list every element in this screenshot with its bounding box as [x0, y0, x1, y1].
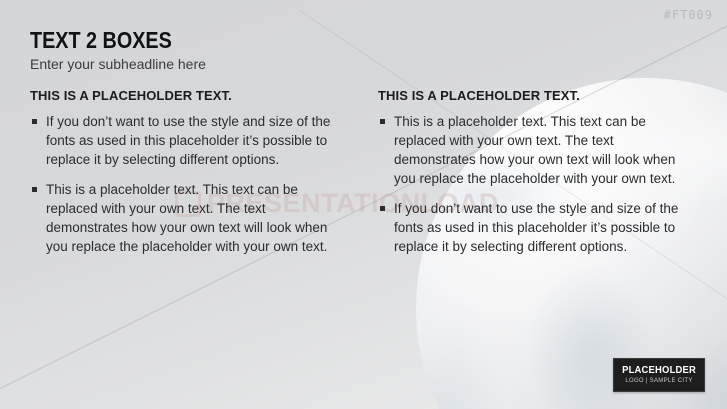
- page-subtitle[interactable]: Enter your subheadline here: [30, 56, 206, 72]
- template-code-tag: #FT009: [664, 8, 713, 22]
- list-item[interactable]: If you don’t want to use the style and s…: [378, 199, 696, 256]
- slide-canvas: PRESENTATIONLOAD #FT009 TEXT 2 BOXES Ent…: [0, 0, 727, 409]
- square-bullet-icon: [32, 119, 37, 124]
- logo-placeholder[interactable]: PLACEHOLDER LOGO | SAMPLE CITY: [613, 358, 705, 392]
- list-item-text: This is a placeholder text. This text ca…: [394, 114, 675, 186]
- logo-subtitle: LOGO | SAMPLE CITY: [625, 377, 692, 386]
- list-item[interactable]: This is a placeholder text. This text ca…: [378, 112, 696, 188]
- square-bullet-icon: [380, 119, 385, 124]
- square-bullet-icon: [380, 206, 385, 211]
- list-item-text: This is a placeholder text. This text ca…: [46, 182, 327, 254]
- slide-header: TEXT 2 BOXES Enter your subheadline here: [30, 28, 206, 72]
- list-item[interactable]: If you don’t want to use the style and s…: [30, 112, 348, 169]
- bullet-list: If you don’t want to use the style and s…: [30, 112, 348, 256]
- square-bullet-icon: [32, 187, 37, 192]
- list-item[interactable]: This is a placeholder text. This text ca…: [30, 180, 348, 256]
- text-box-left: THIS IS A PLACEHOLDER TEXT. If you don’t…: [30, 88, 348, 256]
- logo-title: PLACEHOLDER: [622, 364, 696, 376]
- column-heading[interactable]: THIS IS A PLACEHOLDER TEXT.: [30, 88, 348, 104]
- list-item-text: If you don’t want to use the style and s…: [394, 201, 678, 254]
- bullet-list: This is a placeholder text. This text ca…: [378, 112, 696, 256]
- list-item-text: If you don’t want to use the style and s…: [46, 114, 330, 167]
- column-heading[interactable]: THIS IS A PLACEHOLDER TEXT.: [378, 88, 696, 104]
- text-box-right: THIS IS A PLACEHOLDER TEXT. This is a pl…: [378, 88, 696, 256]
- page-title: TEXT 2 BOXES: [30, 28, 181, 52]
